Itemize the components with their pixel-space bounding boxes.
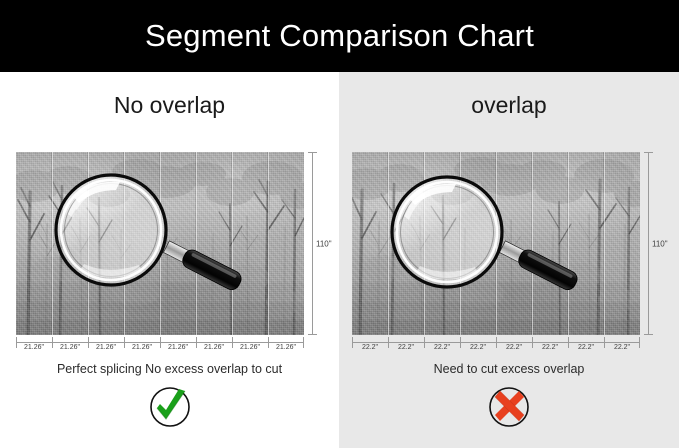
segment-width-label: 21.26" [52,344,88,351]
mural-image-no-overlap [16,152,304,335]
segment-width-label: 21.26" [196,344,232,351]
forest-artwork-icon [16,152,304,335]
panel-no-overlap: No overlap [0,72,339,448]
red-cross-icon [486,384,532,430]
segment-width-label: 22.2" [424,344,460,351]
height-dimension-overlap: 110" [642,152,676,335]
height-dimension-no-overlap: 110" [306,152,340,335]
panel-heading-overlap: overlap [339,92,679,119]
mural-trees-artwork [352,152,640,335]
segment-width-label: 21.26" [160,344,196,351]
page-title: Segment Comparison Chart [0,0,679,72]
verdict-no-overlap [0,384,339,435]
segment-width-label: 22.2" [568,344,604,351]
figure-overlap: 22.2" 22.2" 22.2" 22.2" 22.2" 22.2" 22.2… [352,152,640,335]
segment-width-label: 22.2" [532,344,568,351]
height-label: 110" [652,239,668,248]
caption-overlap: Need to cut excess overlap [339,362,679,376]
segment-width-label: 21.26" [268,344,304,351]
segment-width-label: 21.26" [232,344,268,351]
verdict-overlap [339,384,679,435]
panel-overlap: overlap [339,72,679,448]
segment-width-label: 22.2" [496,344,532,351]
segment-width-label: 22.2" [604,344,640,351]
segment-width-label: 21.26" [16,344,52,351]
segment-comparison-chart-page: Segment Comparison Chart No overlap [0,0,679,448]
figure-no-overlap: 21.26" 21.26" 21.26" 21.26" 21.26" 21.26… [16,152,304,335]
green-check-icon [147,384,193,430]
caption-no-overlap: Perfect splicing No excess overlap to cu… [0,362,339,376]
segment-width-label: 22.2" [352,344,388,351]
mural-image-overlap [352,152,640,335]
mural-trees-artwork [16,152,304,335]
segment-width-label: 21.26" [88,344,124,351]
segment-width-label: 22.2" [388,344,424,351]
width-dimension-ruler-no-overlap: 21.26" 21.26" 21.26" 21.26" 21.26" 21.26… [16,335,304,357]
forest-artwork-icon [352,152,640,335]
segment-width-label: 21.26" [124,344,160,351]
segment-width-label: 22.2" [460,344,496,351]
height-label: 110" [316,239,332,248]
panel-heading-no-overlap: No overlap [0,92,339,119]
width-dimension-ruler-overlap: 22.2" 22.2" 22.2" 22.2" 22.2" 22.2" 22.2… [352,335,640,357]
header-bar: Segment Comparison Chart [0,0,679,72]
